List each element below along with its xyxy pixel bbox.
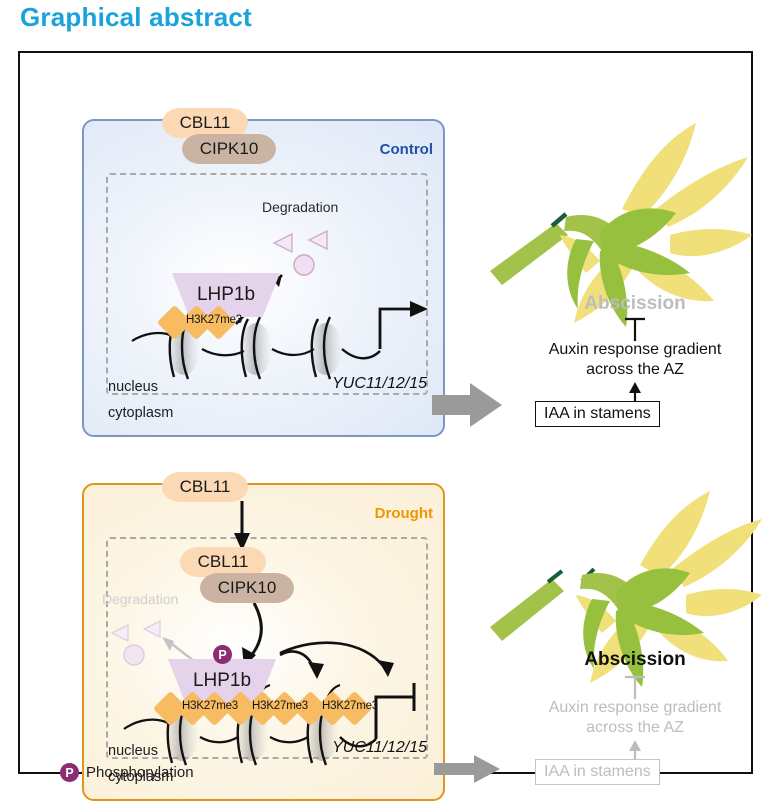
iaa-box-control: IAA in stamens <box>535 401 660 427</box>
cipk10-label-control: CIPK10 <box>200 139 259 159</box>
cbl11-label-drought-outer: CBL11 <box>180 477 231 497</box>
cbl11-label-drought-inner: CBL11 <box>198 552 249 572</box>
flower-stem-drought <box>490 571 564 641</box>
iaa-box-drought: IAA in stamens <box>535 759 660 785</box>
control-panel: Control nucleus cytoplasm YUC11/12/15 De… <box>82 119 445 437</box>
gene-label-control: YUC11/12/15 <box>332 375 427 393</box>
abscission-control: Abscission <box>490 293 771 315</box>
auxin-control: Auxin response gradient across the AZ <box>490 340 771 380</box>
phospho-legend-letter: P <box>65 766 73 780</box>
abscission-drought: Abscission <box>490 649 771 671</box>
flower-stem-control <box>490 214 622 285</box>
legend: P Phosphorylation <box>60 763 194 782</box>
cipk10-blob-control: CIPK10 <box>182 134 276 164</box>
nucleus-label-drought: nucleus <box>108 743 158 759</box>
phospho-legend-label: Phosphorylation <box>86 764 194 781</box>
drought-panel-tag: Drought <box>375 505 433 522</box>
cytoplasm-label-control: cytoplasm <box>108 405 173 421</box>
auxin-drought: Auxin response gradient across the AZ <box>490 698 771 738</box>
auxin-line2-control: across the AZ <box>490 360 771 380</box>
phospho-badge-letter: P <box>218 648 226 662</box>
cbl11-blob-drought-outer: CBL11 <box>162 472 248 502</box>
cipk10-blob-drought-inner: CIPK10 <box>200 573 294 603</box>
degradation-label-control: Degradation <box>262 199 338 215</box>
h3k27me3-label: H3K27me3 <box>160 314 268 326</box>
abstract-frame: Control nucleus cytoplasm YUC11/12/15 De… <box>18 51 753 774</box>
h3k27me3-label: H3K27me3 <box>296 700 404 712</box>
cbl11-label-control: CBL11 <box>180 113 231 133</box>
page-title: Graphical abstract <box>20 2 252 33</box>
auxin-line1-drought: Auxin response gradient <box>490 698 771 718</box>
flower-drought-detached <box>490 477 771 667</box>
auxin-line2-drought: across the AZ <box>490 718 771 738</box>
nucleus-label-control: nucleus <box>108 379 158 395</box>
control-panel-tag: Control <box>380 141 433 158</box>
degradation-label-drought: Degradation <box>102 591 178 607</box>
drought-panel: Drought nucleus cytoplasm YUC11/12/15 De… <box>82 483 445 801</box>
phospho-badge-drought: P <box>213 645 232 664</box>
h3k27me3-group-3: H3K27me3 <box>296 691 404 727</box>
phospho-legend-icon: P <box>60 763 79 782</box>
auxin-line1-control: Auxin response gradient <box>490 340 771 360</box>
gene-label-drought: YUC11/12/15 <box>332 739 427 757</box>
flower-control-attached <box>490 113 771 303</box>
cipk10-label-drought-inner: CIPK10 <box>218 578 277 598</box>
h3k27me3-group-control: H3K27me3 <box>160 305 268 341</box>
